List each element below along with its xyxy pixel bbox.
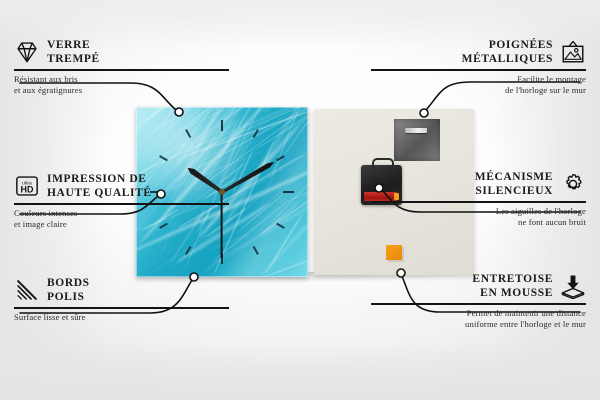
feature-title: ENTRETOISE EN MOUSSE — [472, 272, 553, 300]
feature-mecanisme-silencieux: MÉCANISME SILENCIEUX Les aiguilles de l'… — [371, 170, 586, 229]
picture-frame-icon — [560, 39, 586, 65]
feature-title-line1: ENTRETOISE — [472, 272, 553, 286]
feature-impression-haute-qualite: ultra HD IMPRESSION DE HAUTE QUALITÉ Cou… — [14, 172, 229, 231]
feature-title-line2: EN MOUSSE — [472, 286, 553, 300]
feature-desc-line2: ne font aucun bruit — [371, 217, 586, 229]
feature-desc-line1: Permet de maintenir une distance — [371, 308, 586, 320]
feature-desc-line2: et image claire — [14, 219, 229, 231]
feature-entretoise-en-mousse: ENTRETOISE EN MOUSSE Permet de maintenir… — [371, 272, 586, 331]
feature-verre-trempe: VERRE TREMPÉ Résistant aux bris et aux é… — [14, 38, 229, 97]
feature-desc-line1: Les aiguilles de l'horloge — [371, 206, 586, 218]
feature-rule — [371, 303, 586, 305]
feature-desc-line2: de l'horloge sur le mur — [371, 85, 586, 97]
feature-desc-line2: uniforme entre l'horloge et le mur — [371, 319, 586, 331]
feature-title: VERRE TREMPÉ — [47, 38, 100, 66]
feature-header: ENTRETOISE EN MOUSSE — [371, 272, 586, 300]
feature-rule — [14, 203, 229, 205]
foam-spacer-icon — [560, 273, 586, 299]
feature-poignees-metalliques: POIGNÉES MÉTALLIQUES Facilite le montage… — [371, 38, 586, 97]
ultra-hd-icon: ultra HD — [14, 173, 40, 199]
gear-icon — [560, 171, 586, 197]
feature-title-line1: VERRE — [47, 38, 100, 52]
feature-title: IMPRESSION DE HAUTE QUALITÉ — [47, 172, 152, 200]
feature-header: VERRE TREMPÉ — [14, 38, 229, 66]
feature-desc-line1: Facilite le montage — [371, 74, 586, 86]
polished-edge-icon — [14, 277, 40, 303]
feature-desc-line1: Surface lisse et sûre — [14, 312, 229, 324]
feature-header: POIGNÉES MÉTALLIQUES — [371, 38, 586, 66]
feature-title-line2: HAUTE QUALITÉ — [47, 186, 152, 200]
feature-header: MÉCANISME SILENCIEUX — [371, 170, 586, 198]
feature-description: Facilite le montage de l'horloge sur le … — [371, 74, 586, 97]
feature-description: Permet de maintenir une distance uniform… — [371, 308, 586, 331]
feature-description: Résistant aux bris et aux égratignures — [14, 74, 229, 97]
feature-desc-line2: et aux égratignures — [14, 85, 229, 97]
feature-rule — [14, 307, 229, 309]
feature-title: POIGNÉES MÉTALLIQUES — [462, 38, 553, 66]
feature-title-line1: POIGNÉES — [462, 38, 553, 52]
feature-rule — [14, 69, 229, 71]
connector-node-poignees — [420, 109, 428, 117]
feature-title-line1: MÉCANISME — [475, 170, 553, 184]
feature-rule — [371, 201, 586, 203]
feature-desc-line1: Couleurs intenses — [14, 208, 229, 220]
feature-title-line2: MÉTALLIQUES — [462, 52, 553, 66]
feature-description: Couleurs intenses et image claire — [14, 208, 229, 231]
feature-desc-line1: Résistant aux bris — [14, 74, 229, 86]
feature-rule — [371, 69, 586, 71]
feature-bords-polis: BORDS POLIS Surface lisse et sûre — [14, 276, 229, 323]
diamond-icon — [14, 39, 40, 65]
feature-description: Les aiguilles de l'horloge ne font aucun… — [371, 206, 586, 229]
feature-title: MÉCANISME SILENCIEUX — [475, 170, 553, 198]
feature-header: BORDS POLIS — [14, 276, 229, 304]
feature-header: ultra HD IMPRESSION DE HAUTE QUALITÉ — [14, 172, 229, 200]
connector-node-verre — [175, 108, 183, 116]
feature-title-line2: SILENCIEUX — [475, 184, 553, 198]
feature-title-line2: POLIS — [47, 290, 90, 304]
feature-title-line2: TREMPÉ — [47, 52, 100, 66]
feature-title-line1: IMPRESSION DE — [47, 172, 152, 186]
infographic-canvas: VERRE TREMPÉ Résistant aux bris et aux é… — [0, 0, 600, 400]
feature-title: BORDS POLIS — [47, 276, 90, 304]
feature-title-line1: BORDS — [47, 276, 90, 290]
feature-description: Surface lisse et sûre — [14, 312, 229, 324]
hd-label: HD — [21, 185, 34, 195]
